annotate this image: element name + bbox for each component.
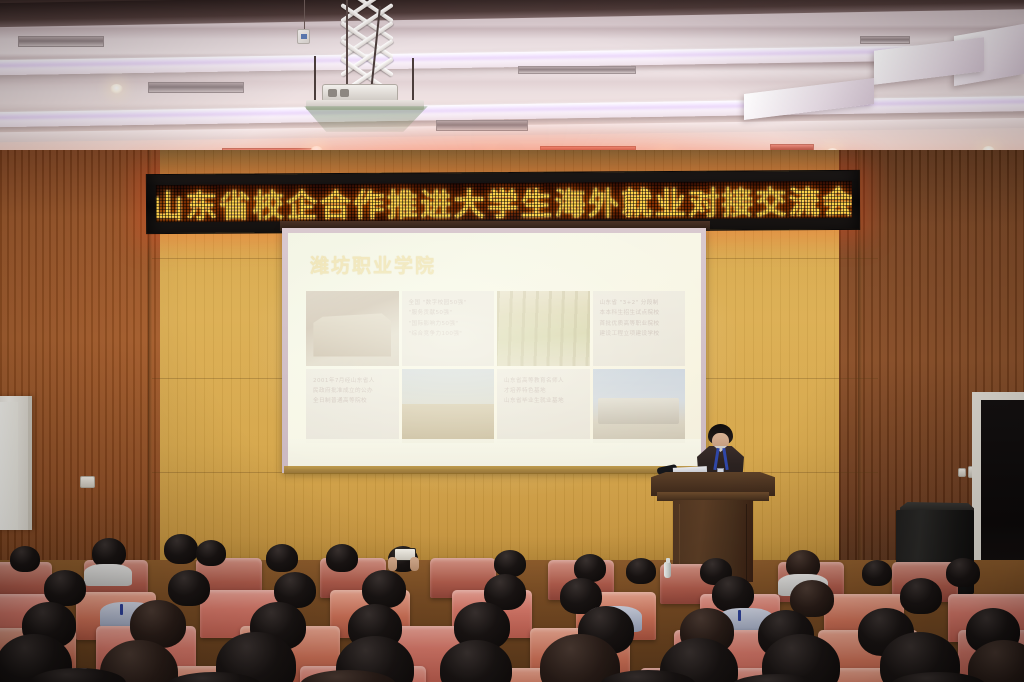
projector-lens bbox=[328, 89, 337, 97]
attendee-hand bbox=[410, 557, 419, 571]
slide-panel-campus-lake-photo bbox=[593, 369, 686, 444]
audience-head bbox=[10, 546, 40, 572]
wall-outlet-plate bbox=[80, 476, 95, 488]
ceiling-cove-light-beam-1 bbox=[0, 43, 1024, 76]
slide-text-line: "综合竞争力100强" bbox=[409, 329, 489, 339]
wall-switch-plate bbox=[958, 468, 966, 477]
slide-text-line: 2001年7月经山东省人 bbox=[313, 376, 393, 386]
led-banner-text: 山东省校企合作推进大学生海外就业对接交流会 bbox=[156, 181, 852, 222]
audience-head bbox=[164, 534, 198, 564]
slide-footer-area bbox=[288, 439, 701, 469]
slide-text-line: 民政府批准成立的公办 bbox=[313, 386, 393, 396]
slide-title: 潍坊职业学院 bbox=[310, 251, 436, 278]
audience-head bbox=[44, 570, 86, 606]
slide-panel-national-honors-text: 全国 "数字校园50强" "服务贡献50强" "国际影响力50强" "综合竞争力… bbox=[402, 291, 495, 366]
slide-text-line: 山东省 "3+2" 分段制 bbox=[600, 298, 680, 308]
projector-support-rod bbox=[314, 56, 316, 106]
attendee-lanyard bbox=[120, 604, 123, 615]
audience-head bbox=[862, 560, 892, 586]
slide-text-line: 本本科生招生试点院校 bbox=[600, 308, 680, 318]
audience-head bbox=[946, 558, 980, 587]
led-banner-display: 山东省校企合作推进大学生海外就业对接交流会 bbox=[156, 181, 852, 222]
projection-screen-bottom-rail bbox=[284, 466, 706, 474]
ceiling-downlight bbox=[110, 84, 123, 94]
hvac-vent bbox=[860, 36, 910, 44]
presentation-slide: 潍坊职业学院 全国 "数字校园50强" "服务贡献50强" "国际影响力50强"… bbox=[288, 233, 701, 469]
slide-panel-grid: 全国 "数字校园50强" "服务贡献50强" "国际影响力50强" "综合竞争力… bbox=[306, 291, 685, 443]
attendee-lanyard bbox=[738, 610, 741, 621]
audience-shoulders bbox=[84, 564, 132, 586]
projector-support-rod bbox=[412, 58, 414, 106]
attendee-hand bbox=[388, 557, 397, 571]
slide-text-line: 山东省毕业生就业基地 bbox=[504, 396, 584, 406]
conference-hall-photo: 山东省校企合作推进大学生海外就业对接交流会 潍坊职业学院 全国 "数字校园50强… bbox=[0, 0, 1024, 682]
hvac-vent bbox=[436, 120, 528, 131]
slide-panel-campus-building-photo bbox=[306, 291, 399, 366]
audience-head bbox=[196, 540, 226, 566]
slide-text-line: "服务贡献50强" bbox=[409, 308, 489, 318]
slide-panel-founding-history-text: 2001年7月经山东省人 民政府批准成立的公办 全日制普通高等院校 bbox=[306, 369, 399, 444]
hvac-vent bbox=[518, 66, 636, 74]
slide-text-line: 首批优质高等职业院校 bbox=[600, 319, 680, 329]
ceiling-top-shadow-strip bbox=[0, 0, 1024, 27]
left-exit-door[interactable] bbox=[0, 396, 32, 530]
audience-seating bbox=[0, 528, 1024, 682]
projector-light-cone bbox=[304, 106, 428, 132]
projector-vent bbox=[340, 89, 349, 97]
water-bottle-on-seat-back bbox=[664, 562, 671, 578]
audience-head bbox=[326, 544, 358, 572]
audience-head bbox=[626, 558, 656, 584]
audience-head bbox=[900, 578, 942, 614]
slide-panel-campus-aerial-photo bbox=[402, 369, 495, 444]
ceiling-projector-assembly bbox=[300, 0, 430, 132]
slide-text-line: 才培养特色基地 bbox=[504, 386, 584, 396]
projection-screen: 潍坊职业学院 全国 "数字校园50强" "服务贡献50强" "国际影响力50强"… bbox=[282, 228, 706, 473]
slide-text-line: 山东省高等教育名师人 bbox=[504, 376, 584, 386]
audience-head bbox=[494, 550, 526, 577]
left-exit-door-panel bbox=[0, 402, 18, 530]
slide-panel-talent-base-text: 山东省高等教育名师人 才培养特色基地 山东省毕业生就业基地 bbox=[497, 369, 590, 444]
audience-head bbox=[266, 544, 298, 572]
hvac-vent bbox=[148, 82, 244, 93]
hvac-vent bbox=[18, 36, 104, 47]
slide-text-line: 全国 "数字校园50强" bbox=[409, 298, 489, 308]
audience-head bbox=[712, 576, 754, 612]
slide-panel-campus-treelined-road-photo bbox=[497, 291, 590, 366]
slide-text-line: "国际影响力50强" bbox=[409, 319, 489, 329]
audience-head bbox=[168, 570, 210, 606]
audience-head bbox=[362, 570, 406, 608]
slide-text-line: 全日制普通高等院校 bbox=[313, 396, 393, 406]
slide-text-line: 建设工程立项建设学校 bbox=[600, 329, 680, 339]
slide-panel-province-programs-text: 山东省 "3+2" 分段制 本本科生招生试点院校 首批优质高等职业院校 建设工程… bbox=[593, 291, 686, 366]
